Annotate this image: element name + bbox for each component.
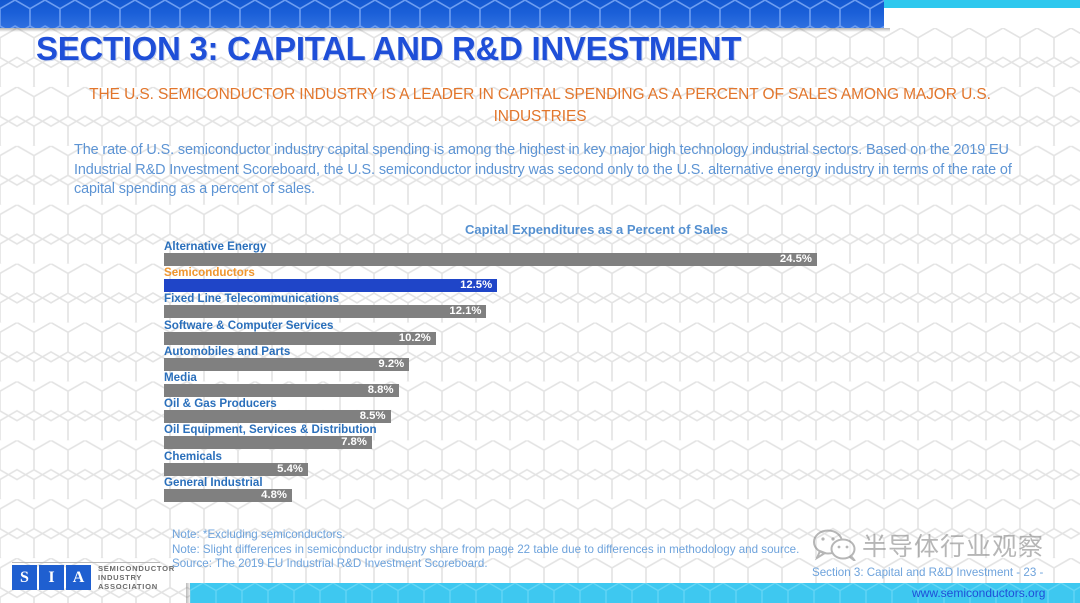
sia-letter-a: A (66, 565, 91, 590)
band-hexagon-texture (0, 0, 884, 28)
sia-logo-squares: S I A (12, 565, 91, 590)
header-decorative-band (0, 0, 884, 28)
body-paragraph: The rate of U.S. semiconductor industry … (74, 141, 1022, 200)
bar-category-label: Semiconductors (164, 266, 255, 279)
bar-value-label: 7.8% (164, 436, 372, 449)
bar-value-label: 24.5% (164, 253, 817, 266)
bar-category-label: Chemicals (164, 450, 222, 463)
slide-canvas: SECTION 3: CAPITAL AND R&D INVESTMENT TH… (0, 0, 1080, 603)
wechat-icon (812, 529, 858, 561)
header-cyan-strip (884, 0, 1080, 8)
bar-chart: Capital Expenditures as a Percent of Sal… (0, 222, 1080, 512)
bar-category-label: General Industrial (164, 476, 263, 489)
bar-row: Chemicals5.4% (164, 450, 964, 476)
bar-row: Oil Equipment, Services & Distribution7.… (164, 423, 964, 449)
bar-row: Fixed Line Telecommunications12.1% (164, 292, 964, 318)
sia-logo-wordmark: SEMICONDUCTOR INDUSTRY ASSOCIATION (98, 564, 175, 591)
bar-row: Media8.8% (164, 371, 964, 397)
note-line-1: Note: *Excluding semiconductors. (172, 528, 799, 543)
bar-row: Automobiles and Parts9.2% (164, 345, 964, 371)
bar-value-label: 9.2% (164, 358, 409, 371)
footer-section-label: Section 3: Capital and R&D Investment - … (812, 566, 1043, 579)
bar-category-label: Oil Equipment, Services & Distribution (164, 423, 377, 436)
page-title: SECTION 3: CAPITAL AND R&D INVESTMENT (36, 30, 741, 68)
bar-row: Software & Computer Services10.2% (164, 319, 964, 345)
sia-word-industry: INDUSTRY (98, 573, 175, 582)
bar-value-label: 10.2% (164, 332, 436, 345)
sia-letter-i: I (39, 565, 64, 590)
page-subtitle: THE U.S. SEMICONDUCTOR INDUSTRY IS A LEA… (70, 84, 1010, 128)
bar-category-label: Automobiles and Parts (164, 345, 290, 358)
watermark: 半导体行业观察 (812, 524, 1044, 566)
bar-category-label: Fixed Line Telecommunications (164, 292, 339, 305)
sia-letter-s: S (12, 565, 37, 590)
bar-category-label: Media (164, 371, 197, 384)
note-line-3: Source: The 2019 EU Industrial R&D Inves… (172, 557, 799, 572)
bar-row: Alternative Energy24.5% (164, 240, 964, 266)
bar-value-label: 12.5% (164, 279, 497, 292)
bar-category-label: Oil & Gas Producers (164, 397, 277, 410)
bar-category-label: Alternative Energy (164, 240, 266, 253)
bar-value-label: 8.5% (164, 410, 391, 423)
bar-category-label: Software & Computer Services (164, 319, 333, 332)
chart-title: Capital Expenditures as a Percent of Sal… (465, 222, 728, 237)
bar-row: Oil & Gas Producers8.5% (164, 397, 964, 423)
chart-bars-container: Alternative Energy24.5%Semiconductors12.… (164, 240, 964, 502)
logo-divider (12, 562, 160, 563)
sia-word-association: ASSOCIATION (98, 582, 175, 591)
footer-band-shadow (186, 583, 191, 603)
footer-website-link[interactable]: www.semiconductors.org (912, 586, 1045, 600)
sia-logo: S I A SEMICONDUCTOR INDUSTRY ASSOCIATION (12, 564, 175, 591)
bar-value-label: 12.1% (164, 305, 486, 318)
watermark-text: 半导体行业观察 (862, 527, 1044, 563)
bar-row: Semiconductors12.5% (164, 266, 964, 292)
bar-row: General Industrial4.8% (164, 476, 964, 502)
note-line-2: Note: Slight differences in semiconducto… (172, 543, 799, 558)
bar-value-label: 5.4% (164, 463, 308, 476)
bar-value-label: 8.8% (164, 384, 399, 397)
chart-notes: Note: *Excluding semiconductors. Note: S… (172, 528, 799, 572)
bar-value-label: 4.8% (164, 489, 292, 502)
sia-word-semiconductor: SEMICONDUCTOR (98, 564, 175, 573)
